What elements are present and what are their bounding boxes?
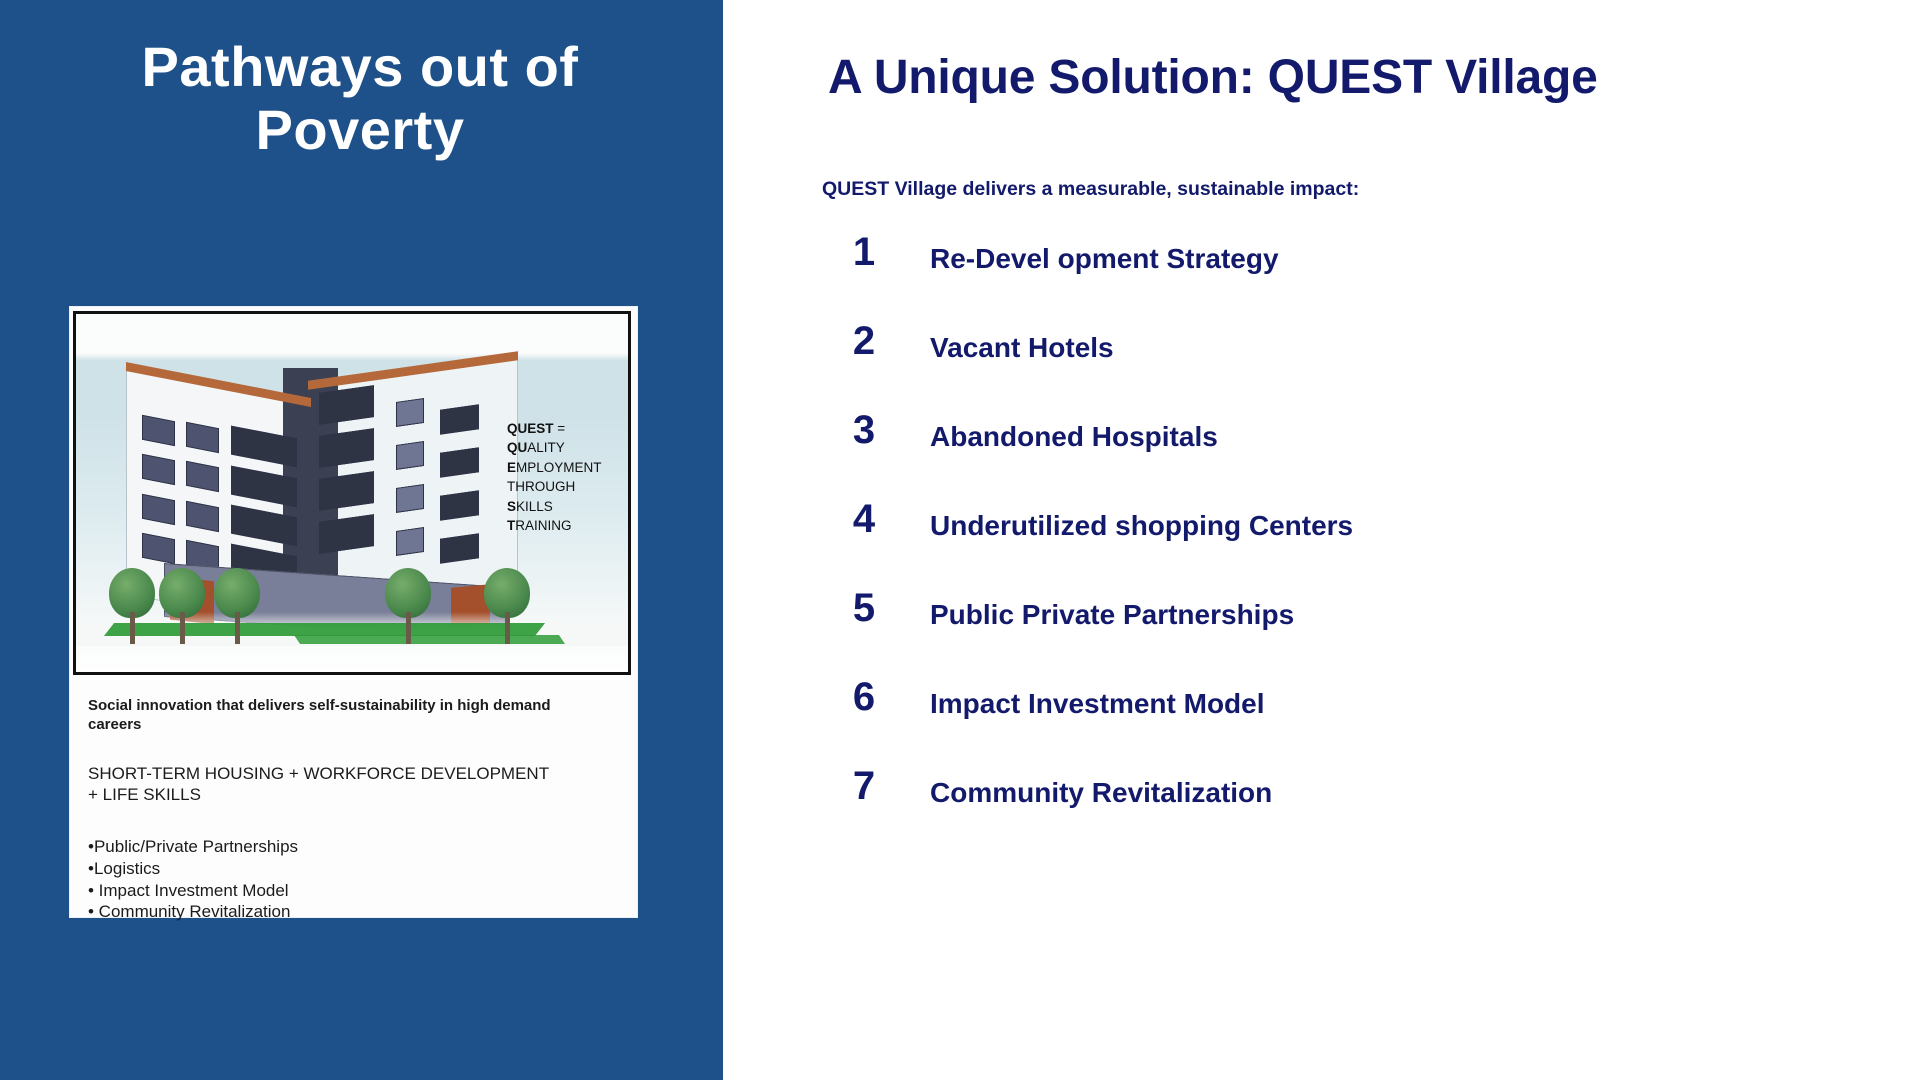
quest-acronym-line-initial: QU (507, 440, 527, 455)
caption-bullet-list: •Public/Private Partnerships•Logistics• … (88, 836, 608, 923)
impact-list-item[interactable]: 1Re-Devel opment Strategy (820, 232, 1840, 321)
street-tree (484, 568, 530, 642)
impact-list-item[interactable]: 3Abandoned Hospitals (820, 410, 1840, 499)
impact-item-number: 6 (840, 677, 888, 717)
impact-list-item[interactable]: 4Underutilized shopping Centers (820, 499, 1840, 588)
impact-item-label: Abandoned Hospitals (930, 421, 1218, 453)
quest-acronym-line: QUEST = (507, 419, 619, 438)
page-title: A Unique Solution: QUEST Village (828, 50, 1598, 105)
impact-item-number: 7 (840, 766, 888, 806)
impact-item-label: Re-Devel opment Strategy (930, 243, 1279, 275)
quest-acronym-line-rest: = (554, 421, 566, 436)
impact-item-label: Vacant Hotels (930, 332, 1114, 364)
quest-acronym-line-rest: ALITY (527, 440, 565, 455)
window (396, 484, 424, 513)
caption-formula-text: SHORT-TERM HOUSING + WORKFORCE DEVELOPME… (88, 763, 558, 807)
street-tree (214, 568, 260, 642)
slide-canvas: Pathways out of Poverty (0, 0, 1920, 1080)
quest-acronym-line: TRAINING (507, 516, 619, 535)
impact-list-item[interactable]: 2Vacant Hotels (820, 321, 1840, 410)
impact-item-label: Underutilized shopping Centers (930, 510, 1353, 542)
quest-acronym-line-initial: QUEST (507, 421, 554, 436)
quest-village-image-card: QUEST =QUALITYEMPLOYMENTTHROUGHSKILLSTRA… (70, 307, 637, 917)
quest-acronym-line: EMPLOYMENT (507, 458, 619, 477)
quest-acronym-line: QUALITY (507, 438, 619, 457)
building-rendering-photo: QUEST =QUALITYEMPLOYMENTTHROUGHSKILLSTRA… (73, 311, 631, 675)
window (396, 527, 424, 556)
street-tree (385, 568, 431, 642)
image-card-caption: Social innovation that delivers self-sus… (88, 697, 608, 923)
impact-list-item[interactable]: 5Public Private Partnerships (820, 588, 1840, 677)
impact-item-number: 5 (840, 588, 888, 628)
left-blue-panel: Pathways out of Poverty (0, 0, 723, 1080)
impact-item-number: 4 (840, 499, 888, 539)
impact-item-number: 3 (840, 410, 888, 450)
street-tree (159, 568, 205, 642)
quest-acronym-line: THROUGH (507, 477, 619, 496)
page-subtitle: QUEST Village delivers a measurable, sus… (822, 178, 1359, 201)
quest-acronym-line-rest: RAINING (515, 518, 571, 533)
impact-item-label: Public Private Partnerships (930, 599, 1294, 631)
quest-acronym-line-rest: MPLOYMENT (516, 460, 602, 475)
caption-bullet-item: • Impact Investment Model (88, 880, 608, 902)
quest-acronym-line-rest: KILLS (516, 499, 553, 514)
impact-item-label: Impact Investment Model (930, 688, 1265, 720)
window (396, 441, 424, 470)
impact-numbered-list: 1Re-Devel opment Strategy2Vacant Hotels3… (820, 232, 1840, 855)
quest-acronym-line-rest: THROUGH (507, 479, 575, 494)
impact-list-item[interactable]: 7Community Revitalization (820, 766, 1840, 855)
caption-bullet-item: •Public/Private Partnerships (88, 836, 608, 858)
quest-acronym-line-initial: S (507, 499, 516, 514)
quest-acronym-line-initial: T (507, 518, 515, 533)
impact-item-label: Community Revitalization (930, 777, 1272, 809)
caption-bullet-item: •Logistics (88, 858, 608, 880)
quest-acronym-text: QUEST =QUALITYEMPLOYMENTTHROUGHSKILLSTRA… (507, 419, 619, 536)
impact-item-number: 1 (840, 232, 888, 272)
caption-bullet-item: • Community Revitalization (88, 901, 608, 923)
quest-acronym-line-initial: E (507, 460, 516, 475)
caption-lead-text: Social innovation that delivers self-sus… (88, 697, 608, 735)
quest-acronym-line: SKILLS (507, 497, 619, 516)
left-panel-title: Pathways out of Poverty (40, 36, 680, 161)
window (396, 398, 424, 427)
impact-list-item[interactable]: 6Impact Investment Model (820, 677, 1840, 766)
street-tree (109, 568, 155, 642)
impact-item-number: 2 (840, 321, 888, 361)
